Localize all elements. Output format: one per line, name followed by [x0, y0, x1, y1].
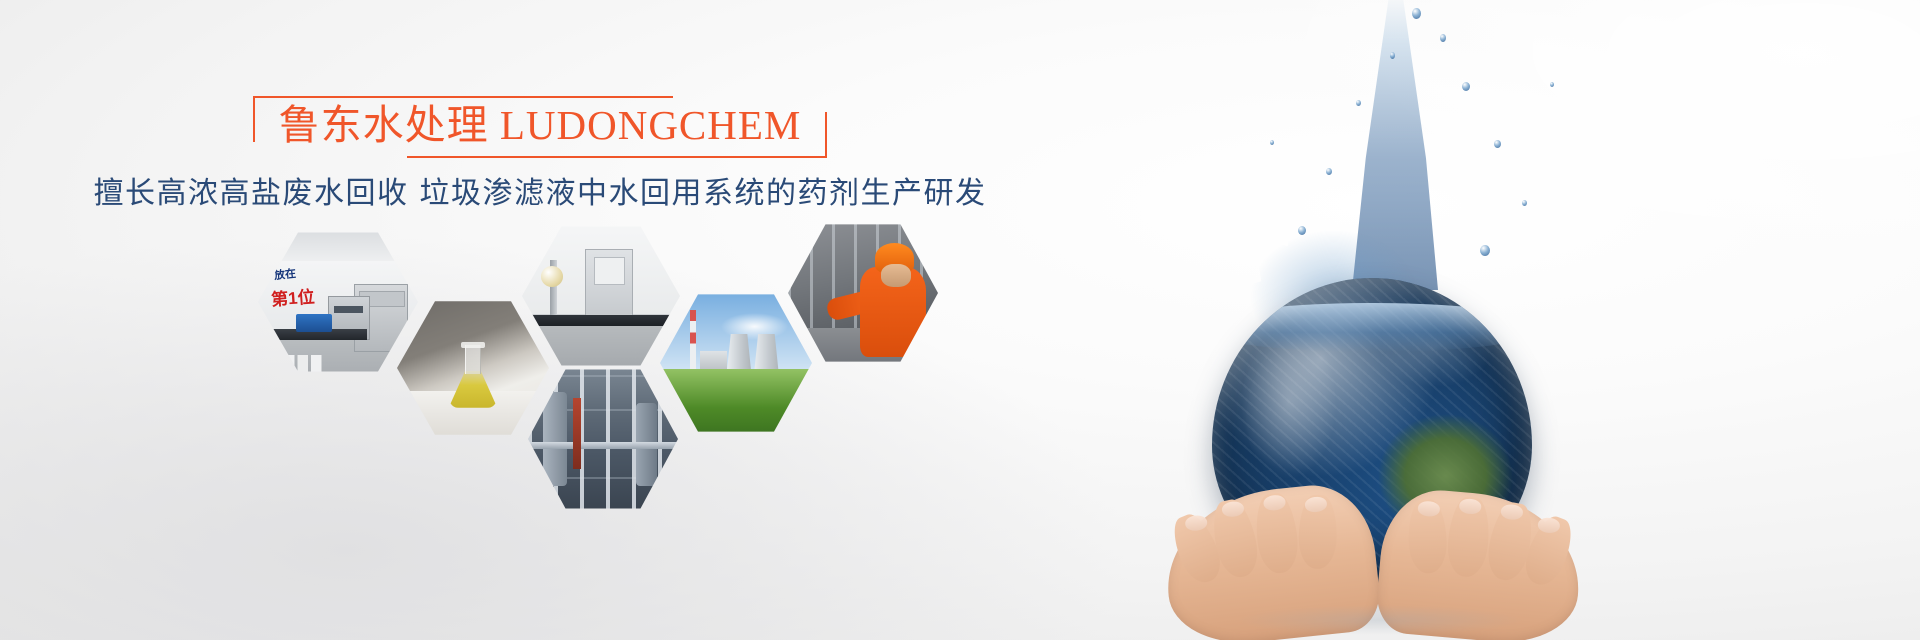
- hexagon-photo-cluster: 放在 第1位: [0, 0, 1080, 640]
- ground-reflection: [1190, 600, 1570, 640]
- hex-photo-lab-glassware: [522, 222, 680, 370]
- globe-and-hands: [1160, 250, 1590, 640]
- hero-banner: 鲁东水处理 LUDONGCHEM 擅长高浓高盐废水回收 垃圾渗滤液中水回用系统的…: [0, 0, 1920, 640]
- wall-slogan-top: 放在: [273, 265, 297, 283]
- hex-photo-power-plant: [660, 290, 812, 436]
- wall-slogan-main: 第1位: [270, 283, 315, 311]
- hex-photo-laboratory-room: 放在 第1位: [258, 228, 418, 376]
- hex-photo-yellow-flask: [397, 297, 549, 439]
- hex-photo-worker: [788, 220, 938, 366]
- water-globe-artwork: [1040, 0, 1920, 640]
- hex-photo-industrial-piping: [528, 365, 678, 513]
